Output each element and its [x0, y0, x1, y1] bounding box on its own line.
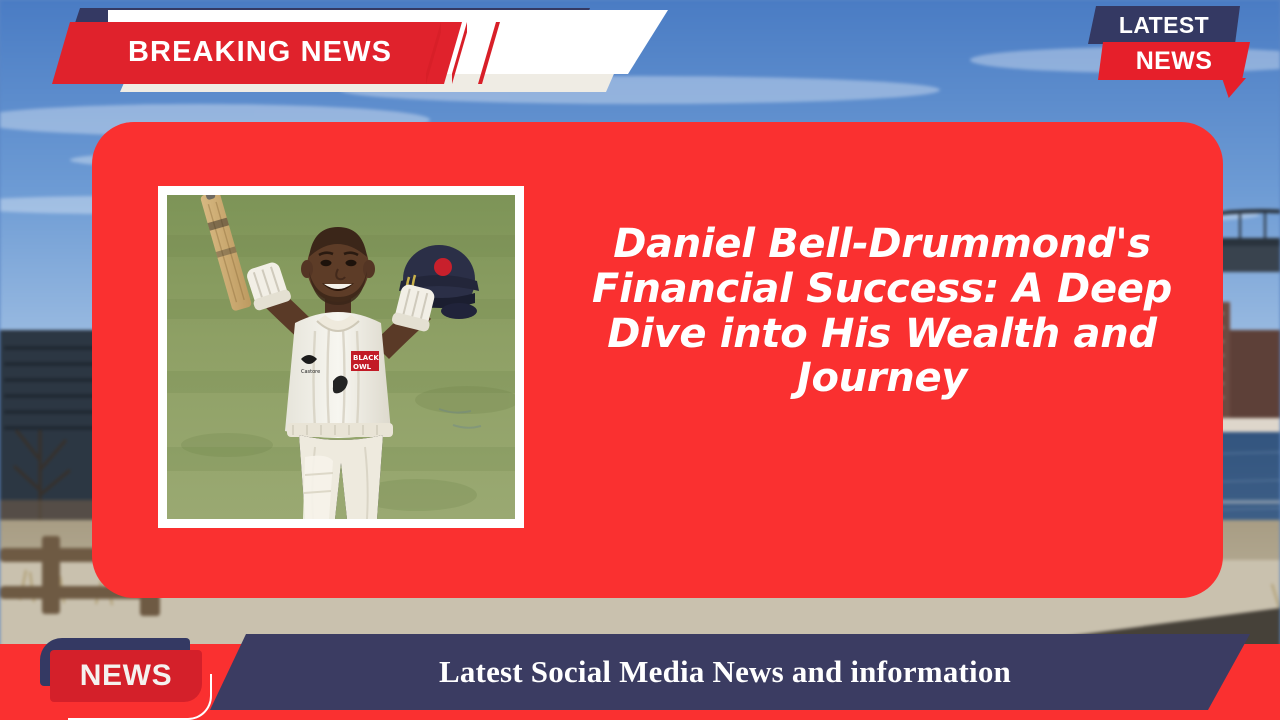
photo-frame: Castore BLACK OWL: [158, 186, 524, 528]
breaking-news-label: BREAKING NEWS: [122, 36, 392, 69]
breaking-news-plate: BREAKING NEWS: [52, 22, 462, 84]
ticker-navy-plate: Latest Social Media News and information: [210, 634, 1250, 710]
news-logo[interactable]: NEWS: [28, 638, 213, 710]
badge-label-news: NEWS: [1136, 47, 1213, 76]
breaking-news-banner: BREAKING NEWS: [0, 0, 760, 104]
badge-label-latest: LATEST: [1119, 12, 1209, 39]
badge-bottom-plate: NEWS: [1098, 42, 1250, 80]
headline-text: Daniel Bell-Drummond's Financial Success…: [572, 222, 1192, 401]
cricketer-photo: Castore BLACK OWL: [167, 195, 515, 519]
logo-label: NEWS: [80, 659, 172, 693]
news-card: Castore BLACK OWL: [92, 122, 1223, 598]
ticker-text: Latest Social Media News and information: [439, 654, 1021, 690]
badge-top-plate: LATEST: [1088, 6, 1240, 44]
latest-news-badge: LATEST NEWS: [1086, 6, 1254, 92]
svg-text:BLACK: BLACK: [353, 354, 379, 362]
cricketer-celebrating-illustration: Castore BLACK OWL: [167, 195, 515, 519]
svg-text:OWL: OWL: [353, 363, 372, 371]
logo-red-shape: NEWS: [50, 650, 202, 702]
svg-text:Castore: Castore: [301, 369, 320, 375]
